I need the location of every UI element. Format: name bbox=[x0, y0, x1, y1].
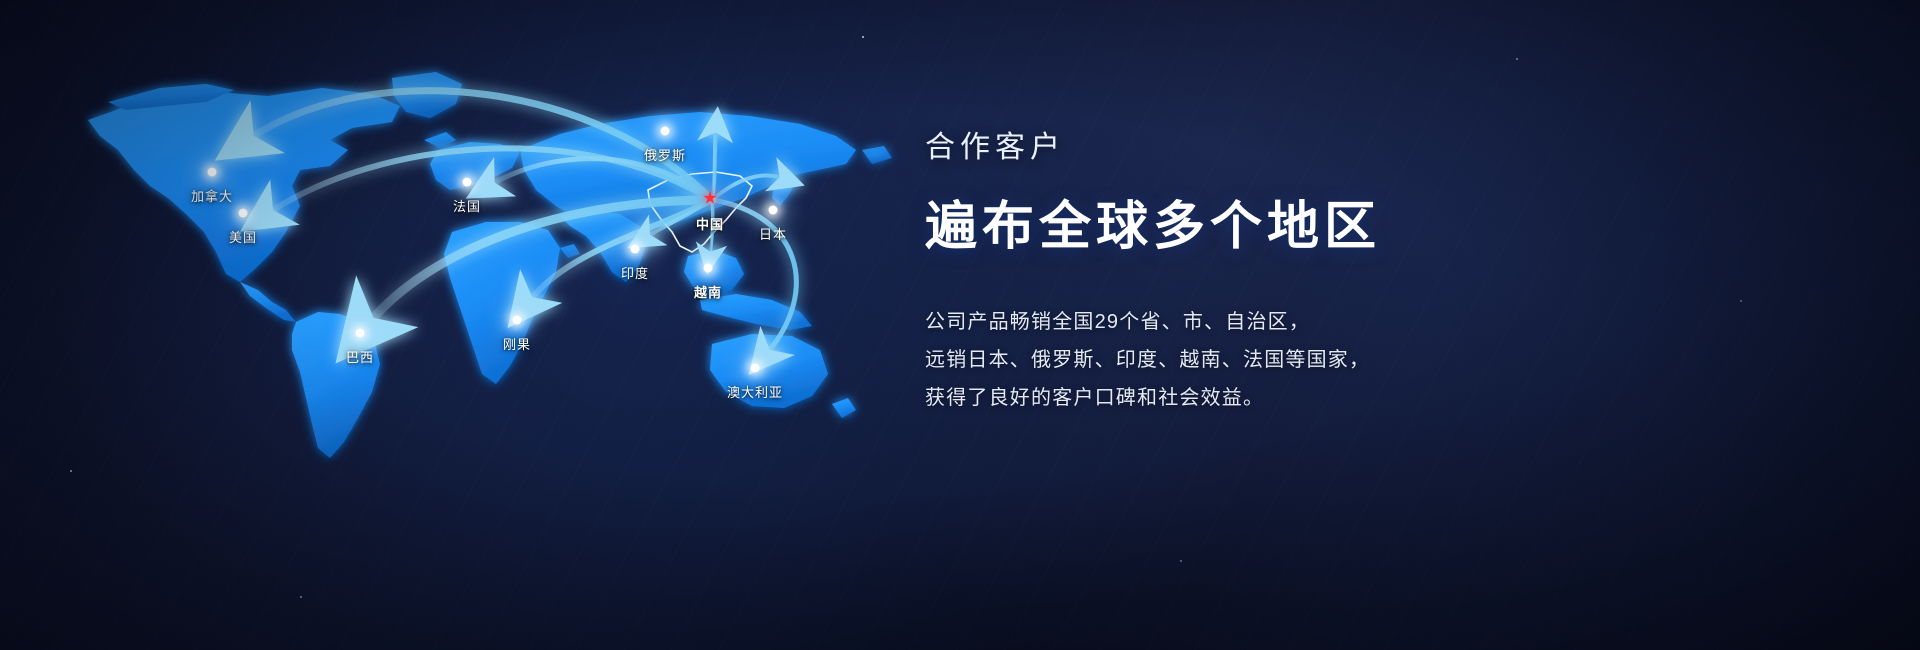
page-title: 遍布全球多个地区 bbox=[925, 184, 1805, 259]
continent-shapes bbox=[88, 72, 892, 458]
paragraph-line-1: 公司产品畅销全国29个省、市、自治区， bbox=[925, 303, 1805, 341]
hero-copy: 合作客户 遍布全球多个地区 公司产品畅销全国29个省、市、自治区， 远销日本、俄… bbox=[925, 122, 1805, 417]
paragraph-line-2: 远销日本、俄罗斯、印度、越南、法国等国家， bbox=[925, 341, 1805, 379]
description-paragraph: 公司产品畅销全国29个省、市、自治区， 远销日本、俄罗斯、印度、越南、法国等国家… bbox=[925, 303, 1805, 417]
eyebrow-title: 合作客户 bbox=[925, 122, 1805, 166]
paragraph-line-3: 获得了良好的客户口碑和社会效益。 bbox=[925, 379, 1805, 417]
star-speck bbox=[1180, 560, 1182, 562]
star-speck bbox=[1516, 58, 1518, 60]
hero-banner: 加拿大 美国 巴西 法国 刚果 俄罗斯 印度 ★ 中国 bbox=[0, 0, 1920, 650]
